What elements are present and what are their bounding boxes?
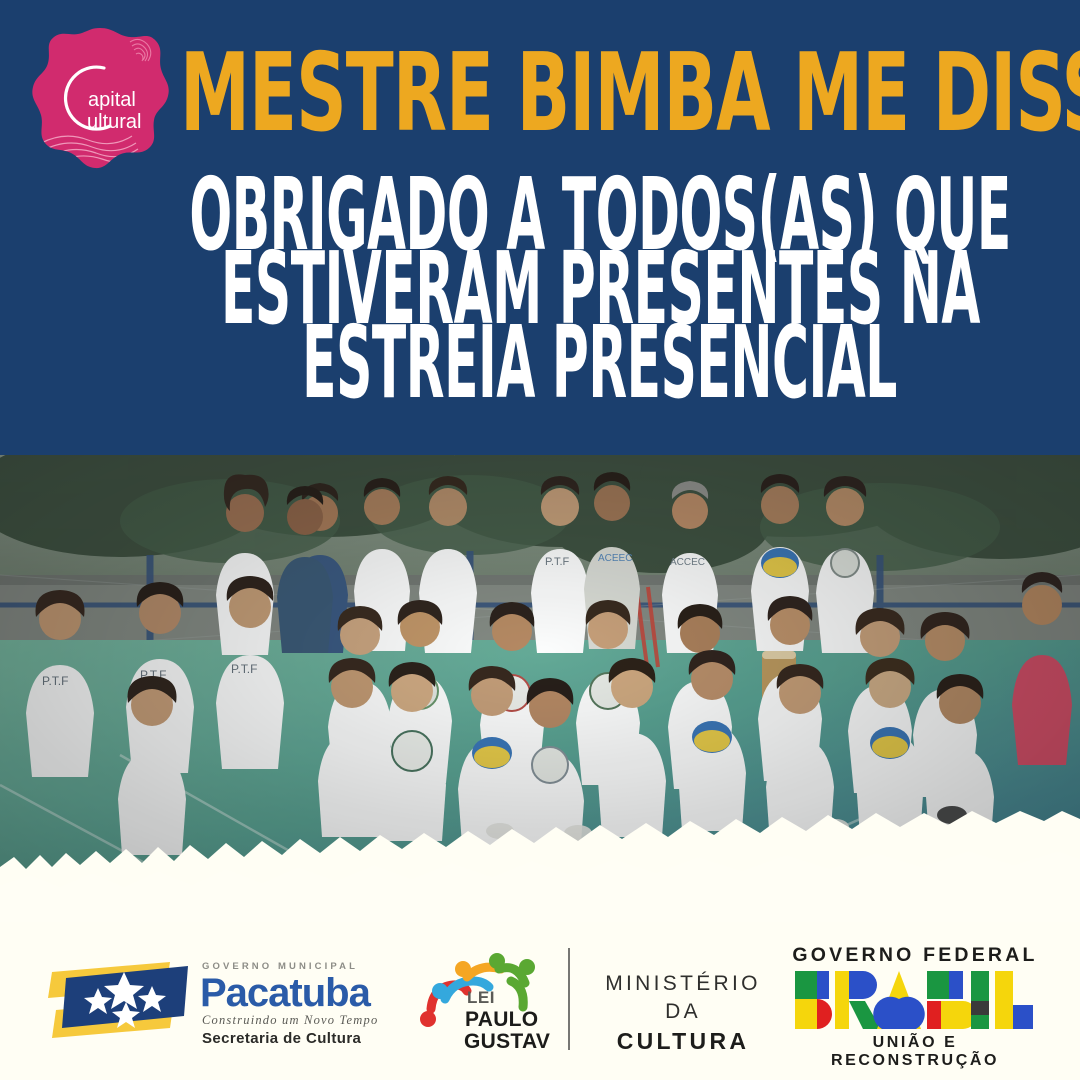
ministry-line-1: MINISTÉRIO DA [588, 970, 778, 1027]
lpg-line-2: PAULO [465, 1008, 538, 1031]
footer-logos-bar: GOVERNO MUNICIPAL Pacatuba Construindo u… [0, 922, 1080, 1080]
pacatuba-department: Secretaria de Cultura [202, 1030, 362, 1047]
torn-edge-divider [0, 807, 1080, 925]
lpg-line-1: LEI [467, 988, 495, 1007]
poster-title-text: MESTRE BIMBA ME DISSE [180, 43, 1080, 145]
governo-federal-bottom: UNIÃO E RECONSTRUÇÃO [790, 1034, 1040, 1070]
ministerio-da-cultura-logo[interactable]: MINISTÉRIO DA CULTURA [588, 970, 778, 1057]
subtitle-text-3: ESTREIA PRESENCIAL [303, 317, 898, 410]
pacatuba-logo[interactable]: GOVERNO MUNICIPAL Pacatuba Construindo u… [42, 944, 392, 1054]
poster: apital ultural MESTRE BIMBA ME DISSE OBR… [0, 0, 1080, 1080]
badge-word-bottom: ultural [87, 111, 141, 133]
capital-cultural-logo: apital ultural [30, 24, 170, 174]
lei-paulo-gustavo-logo[interactable]: LEI PAULO GUSTAVO [415, 947, 550, 1052]
lpg-line-3: GUSTAVO [464, 1030, 550, 1052]
footer-divider [568, 948, 570, 1050]
governo-federal-top: GOVERNO FEDERAL [790, 944, 1040, 967]
header-banner: apital ultural MESTRE BIMBA ME DISSE OBR… [0, 0, 1080, 458]
subtitle-line-3: ESTREIA PRESENCIAL [173, 316, 1028, 410]
pacatuba-tagline: Construindo um Novo Tempo [202, 1013, 378, 1027]
pacatuba-flag-icon [48, 962, 188, 1038]
group-photo: P.T.F ACEEC ACCEC P.T.F P.T.F P.T.F [0, 455, 1080, 925]
poster-subtitle: OBRIGADO A TODOS(AS) QUE ESTIVERAM PRESE… [150, 178, 1050, 400]
ministry-line-2: CULTURA [588, 1027, 778, 1057]
brasil-blocks-icon [795, 971, 1035, 1031]
governo-federal-logo[interactable]: GOVERNO FEDERAL [790, 944, 1040, 1058]
badge-word-top: apital [88, 89, 136, 111]
pacatuba-name: Pacatuba [200, 971, 372, 1015]
poster-title: MESTRE BIMBA ME DISSE [180, 44, 1060, 144]
